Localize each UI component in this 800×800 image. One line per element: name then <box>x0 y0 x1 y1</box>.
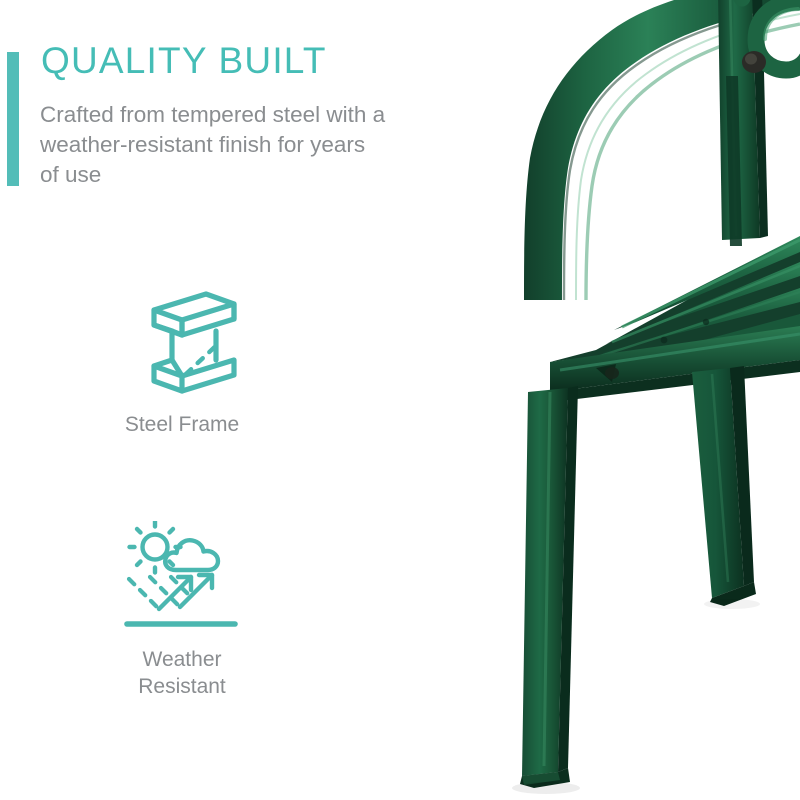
accent-bar <box>7 52 19 186</box>
floor-shadow <box>512 782 580 794</box>
bench-illustration <box>400 0 800 800</box>
i-beam-icon <box>124 288 240 396</box>
floor-shadow-rear <box>704 599 760 609</box>
product-feature-page: QUALITY BUILT Crafted from tempered stee… <box>0 0 800 800</box>
feature-weather-resistant: Weather Resistant <box>32 522 332 700</box>
rear-leg <box>692 366 756 606</box>
front-leg <box>520 386 578 788</box>
armrest-bolt <box>742 51 766 73</box>
feature-label-steel-frame: Steel Frame <box>32 411 332 438</box>
page-title: QUALITY BUILT <box>41 40 327 82</box>
feature-steel-frame: Steel Frame <box>32 287 332 438</box>
product-photo <box>400 0 800 800</box>
feature-icon-wrap <box>32 287 332 397</box>
feature-label-weather-resistant: Weather Resistant <box>32 646 332 700</box>
page-subtitle: Crafted from tempered steel with a weath… <box>40 100 390 190</box>
sun-cloud-rays-icon <box>123 521 241 633</box>
feature-icon-wrap <box>32 522 332 632</box>
